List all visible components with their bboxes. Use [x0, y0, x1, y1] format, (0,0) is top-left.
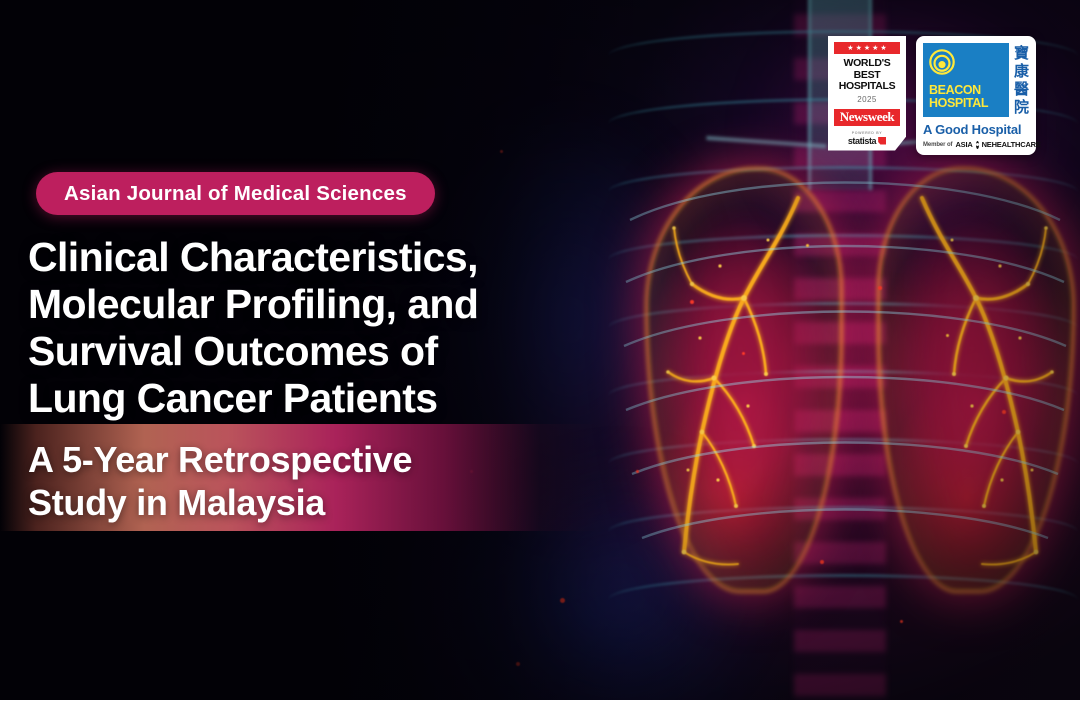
- page-subtitle: A 5-Year Retrospective Study in Malaysia: [28, 438, 588, 524]
- title-line-4: Lung Cancer Patients: [28, 375, 588, 422]
- newsweek-title-line-1: WORLD'S: [839, 58, 896, 70]
- beacon-tagline: A Good Hospital: [923, 122, 1029, 137]
- title-line-3: Survival Outcomes of: [28, 328, 588, 375]
- newsweek-worlds-best-hospitals-badge: ★★★★★ WORLD'S BEST HOSPITALS 2025 Newswe…: [828, 36, 906, 151]
- beacon-chinese-char-2: 康: [1014, 63, 1029, 81]
- newsweek-brand-label: Newsweek: [840, 109, 895, 125]
- beacon-name-line-2: HOSPITAL: [929, 97, 1003, 110]
- statista-label: statista: [848, 136, 876, 146]
- journal-badge: Asian Journal of Medical Sciences: [36, 172, 435, 215]
- subtitle-line-1: A 5-Year Retrospective: [28, 438, 588, 481]
- beacon-member-line: Member of ASIA NEHEALTHCARE: [923, 140, 1029, 149]
- statista-mark-icon: [878, 137, 886, 145]
- onehealthcare-mark-icon: [976, 141, 979, 149]
- accreditation-badges: ★★★★★ WORLD'S BEST HOSPITALS 2025 Newswe…: [828, 36, 1036, 155]
- beacon-chinese-char-1: 寶: [1014, 45, 1029, 63]
- statista-logo: statista: [848, 136, 886, 146]
- page-title: Clinical Characteristics, Molecular Prof…: [28, 234, 588, 422]
- beacon-chinese-name: 寶 康 醫 院: [1014, 43, 1029, 117]
- newsweek-brand-bar: Newsweek: [834, 109, 900, 126]
- member-prefix-label: Member of: [923, 142, 952, 148]
- asia-label: ASIA: [955, 140, 972, 149]
- beacon-logo-block: BEACON HOSPITAL: [923, 43, 1009, 117]
- beacon-name: BEACON HOSPITAL: [929, 84, 1003, 110]
- onehealthcare-label: NEHEALTHCARE: [982, 140, 1041, 149]
- beacon-badge-top: BEACON HOSPITAL 寶 康 醫 院: [923, 43, 1029, 117]
- subtitle-line-2: Study in Malaysia: [28, 481, 588, 524]
- beacon-hospital-badge: BEACON HOSPITAL 寶 康 醫 院 A Good Hospital …: [916, 36, 1036, 155]
- beacon-chinese-char-4: 院: [1014, 99, 1029, 117]
- newsweek-powered-by-label: POWERED BY: [852, 131, 883, 135]
- title-line-1: Clinical Characteristics,: [28, 234, 588, 281]
- newsweek-award-year: 2025: [857, 95, 876, 104]
- title-line-2: Molecular Profiling, and: [28, 281, 588, 328]
- beacon-concentric-circles-icon: [929, 49, 955, 75]
- star-rating-icon: ★★★★★: [834, 42, 900, 54]
- newsweek-award-title: WORLD'S BEST HOSPITALS: [839, 58, 896, 93]
- banner-content: Asian Journal of Medical Sciences Clinic…: [0, 0, 600, 700]
- beacon-chinese-char-3: 醫: [1014, 81, 1029, 99]
- article-banner: Asian Journal of Medical Sciences Clinic…: [0, 0, 1080, 700]
- journal-badge-label: Asian Journal of Medical Sciences: [64, 182, 407, 206]
- newsweek-title-line-3: HOSPITALS: [839, 81, 896, 93]
